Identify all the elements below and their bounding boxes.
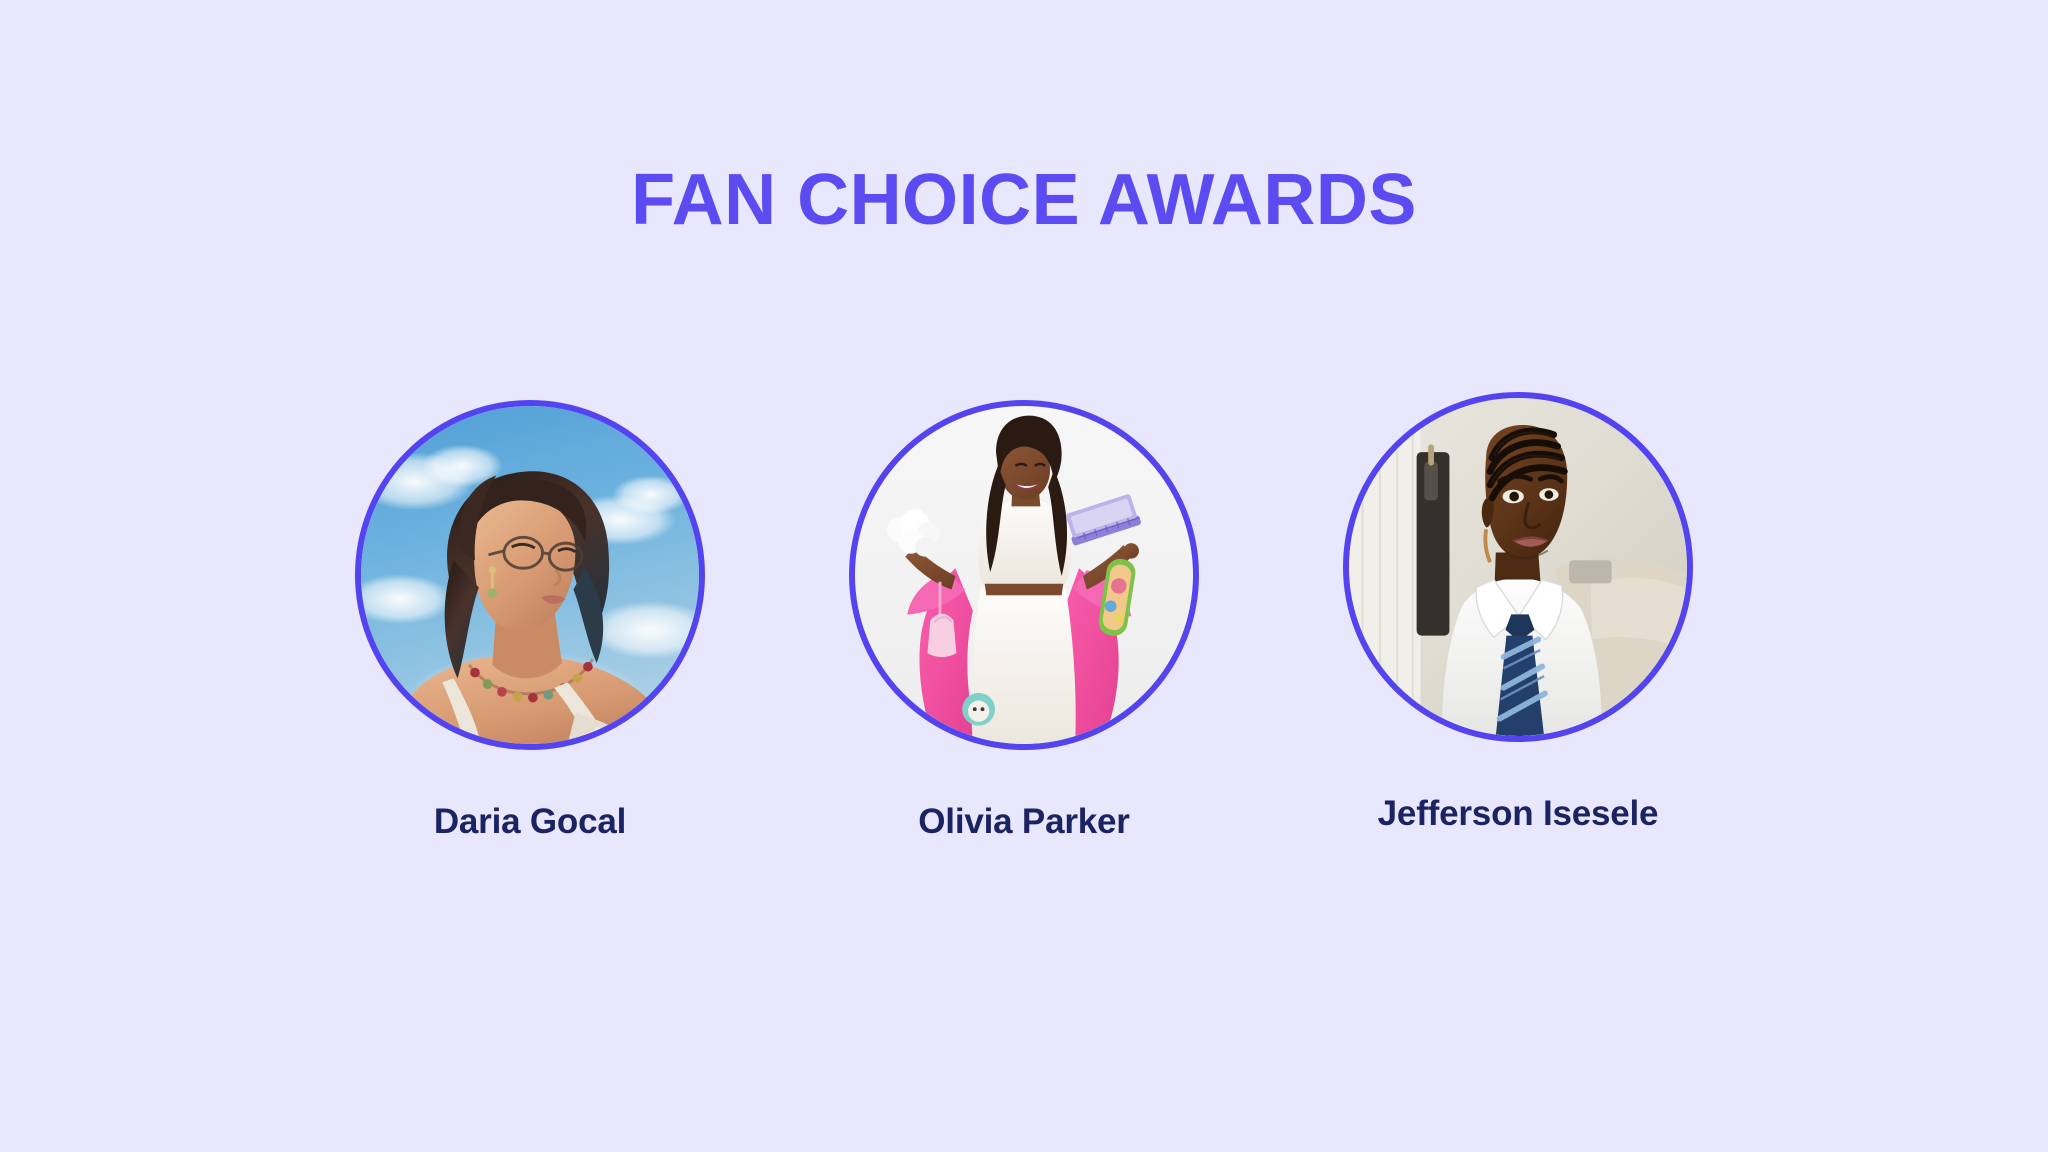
fan-choice-awards-page: FAN CHOICE AWARDS	[0, 0, 2048, 1152]
winner-name: Olivia Parker	[918, 802, 1129, 842]
page-title: FAN CHOICE AWARDS	[0, 164, 2048, 236]
avatar-ring-2[interactable]	[849, 400, 1199, 750]
winner-card-1[interactable]: Daria Gocal	[354, 400, 706, 842]
avatar-ring-3[interactable]	[1343, 392, 1693, 742]
winner-name: Daria Gocal	[434, 802, 626, 842]
avatar-olivia-parker	[855, 406, 1193, 744]
avatar-daria-gocal	[361, 406, 699, 744]
winners-row: Daria Gocal	[0, 400, 2048, 842]
winner-card-3[interactable]: Jefferson Isesele	[1342, 392, 1694, 834]
winner-name: Jefferson Isesele	[1378, 794, 1659, 834]
avatar-ring-1[interactable]	[355, 400, 705, 750]
avatar-jefferson-isesele	[1349, 398, 1687, 736]
winner-card-2[interactable]: Olivia Parker	[848, 400, 1200, 842]
